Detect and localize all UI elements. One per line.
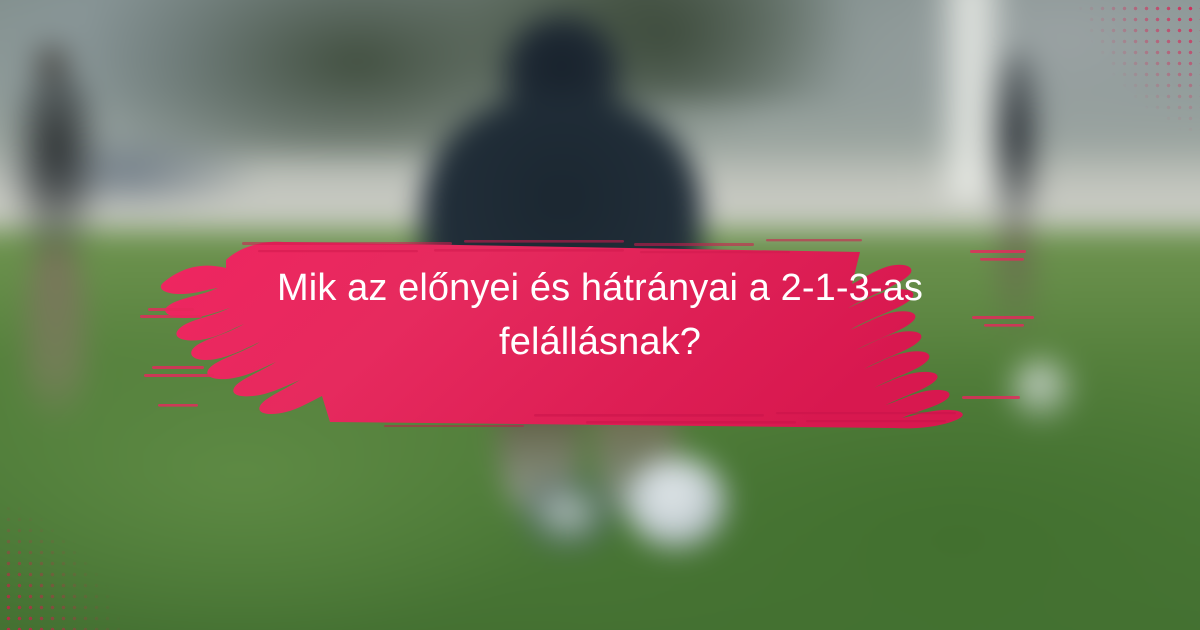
left-player-torso — [14, 74, 98, 259]
left-player-legs — [27, 244, 86, 429]
social-card: Mik az előnyei és hátrányai a 2-1-3-as f… — [0, 0, 1200, 630]
soccer-ball — [626, 457, 728, 549]
headline-line-2: felállásnak? — [499, 316, 701, 370]
headline-line-1: Mik az előnyei és hátrányai a 2-1-3-as — [277, 262, 923, 316]
foreground-player-shoe — [523, 478, 613, 549]
headline: Mik az előnyei és hátrányai a 2-1-3-as f… — [190, 198, 1010, 434]
